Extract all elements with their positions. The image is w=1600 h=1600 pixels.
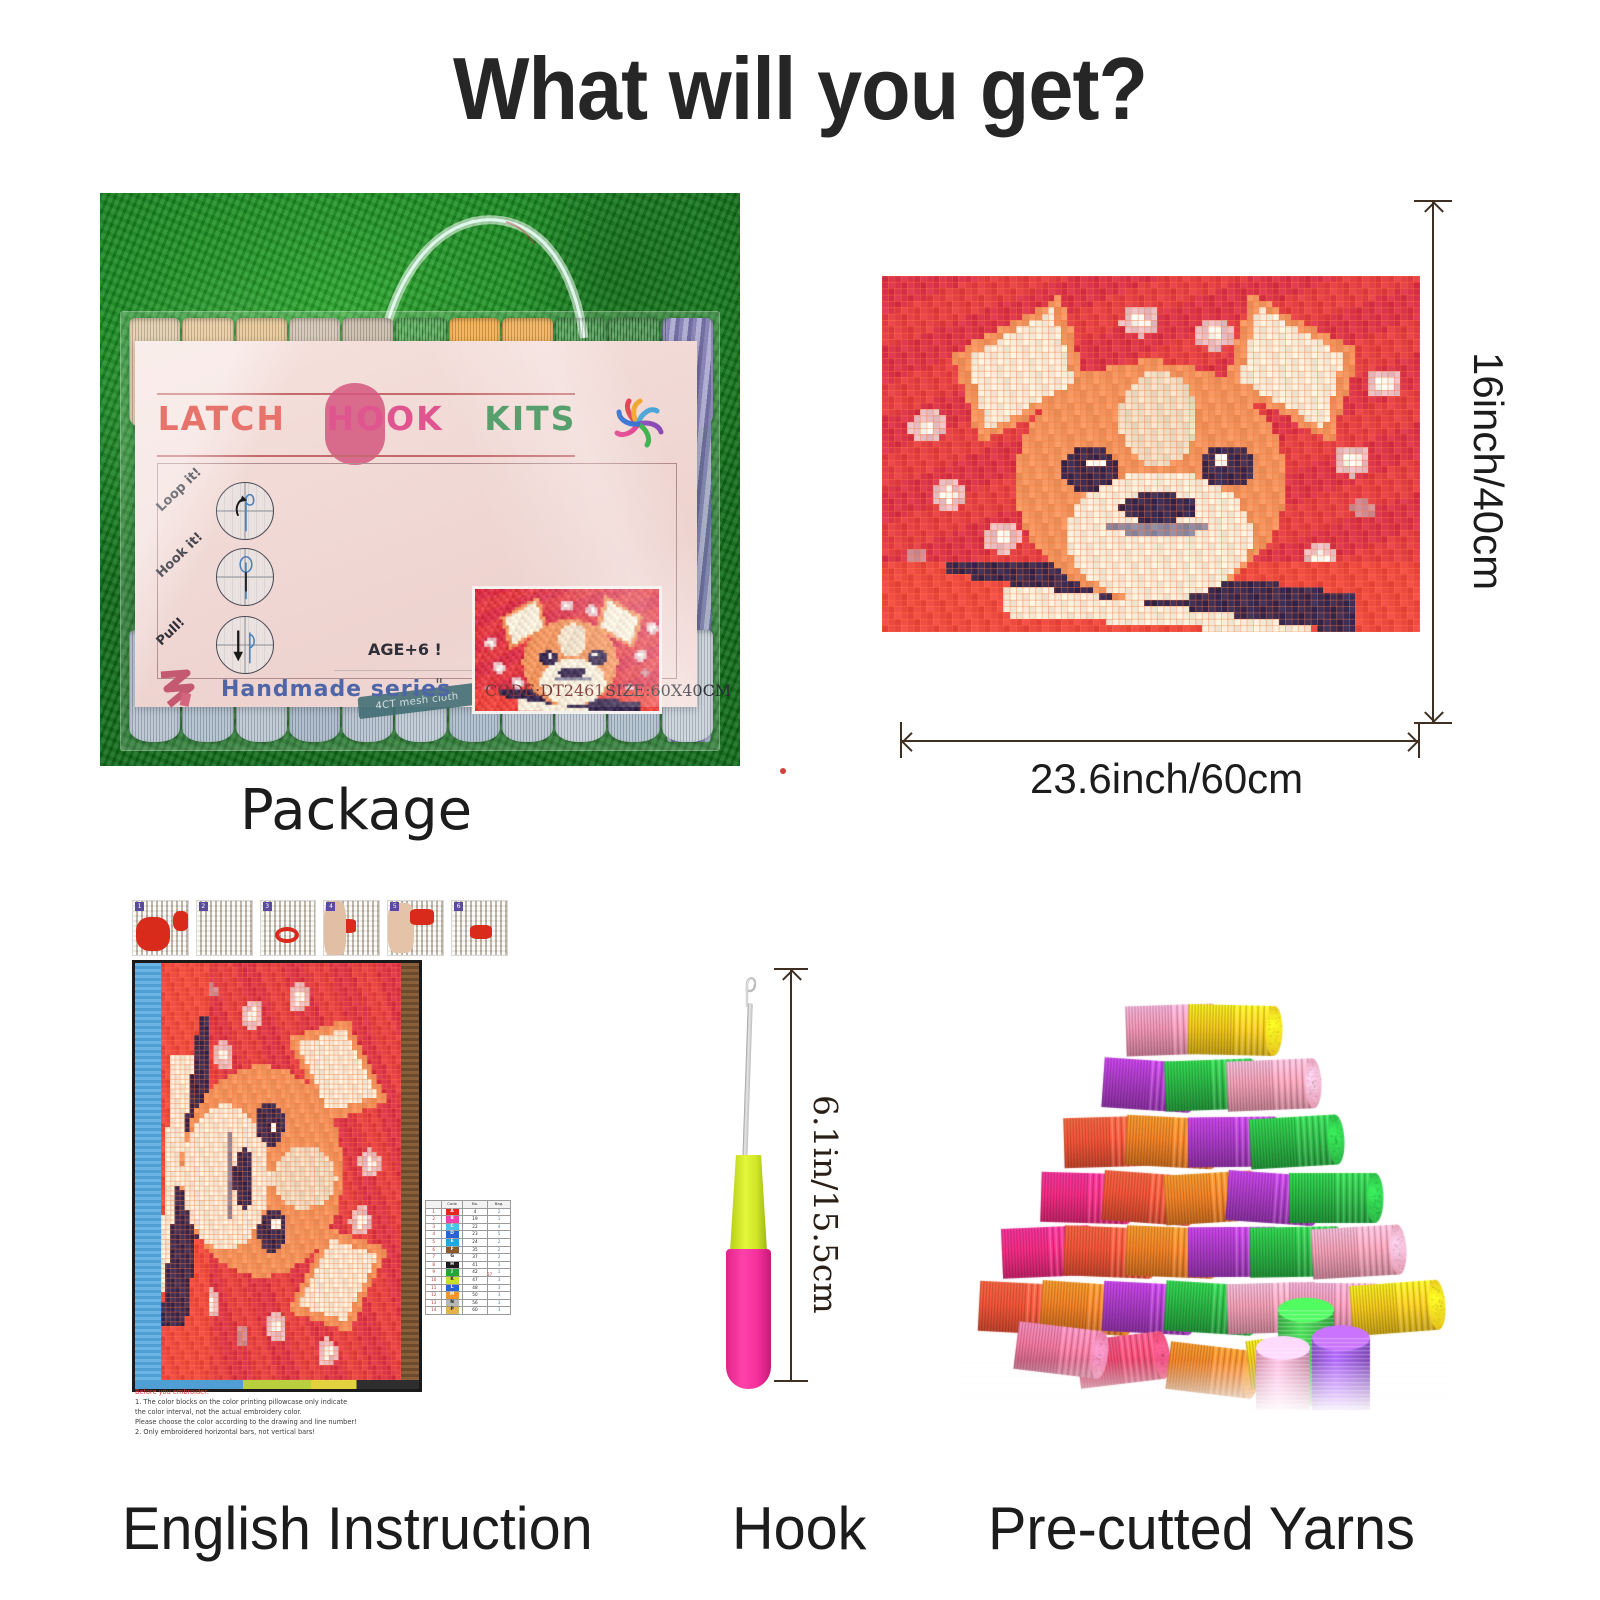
- hook-tip-icon: [736, 971, 758, 1007]
- row-color-swatch: J: [442, 1269, 462, 1277]
- row-bag: 2: [488, 1254, 511, 1262]
- row-color-swatch: B: [442, 1216, 462, 1224]
- label-instruction-box: Loop it! Hook it!: [157, 463, 677, 679]
- table-row: 14P603: [426, 1307, 511, 1315]
- table-row: 6F352: [426, 1246, 511, 1254]
- label-title-word-2: HOOK: [326, 399, 443, 438]
- instruction-notes: Before you embroider: 1. The color block…: [135, 1387, 445, 1437]
- step-number: 6: [454, 902, 463, 911]
- row-color-swatch: G: [442, 1254, 462, 1262]
- row-color-swatch: A: [442, 1208, 462, 1216]
- row-number: 35: [462, 1246, 487, 1254]
- row-number: 47: [462, 1276, 487, 1284]
- label-title-word-3: KITS: [484, 399, 576, 438]
- table-row: 12M503: [426, 1292, 511, 1300]
- step-diagram-hook: [216, 548, 274, 606]
- row-color-swatch: E: [442, 1238, 462, 1246]
- row-index: 4: [426, 1231, 442, 1239]
- row-color-swatch: D: [442, 1231, 462, 1239]
- row-index: 3: [426, 1223, 442, 1231]
- row-index: 1: [426, 1208, 442, 1216]
- plastic-bag: LATCH HOOK KITS: [120, 311, 720, 751]
- hook-handle-lower: [726, 1249, 771, 1389]
- zigzag-logo-icon: [157, 667, 199, 709]
- row-number: 60: [462, 1307, 487, 1315]
- row-number: 42: [462, 1269, 487, 1277]
- dimension-line-vertical: [1432, 200, 1434, 724]
- step-label-pull: Pull!: [154, 615, 189, 649]
- step-thumbnail: 2: [196, 900, 253, 956]
- notes-header: Before you embroider:: [135, 1387, 445, 1397]
- row-bag: 1: [488, 1216, 511, 1224]
- row-bag: 5: [488, 1231, 511, 1239]
- note-line: 2. Only embroidered horizontal bars, not…: [135, 1427, 445, 1437]
- row-number: 19: [462, 1216, 487, 1224]
- dimension-line-horizontal: [900, 740, 1420, 742]
- brand-name: Handmade series: [221, 677, 451, 702]
- row-number: 22: [462, 1223, 487, 1231]
- step-diagram-loop: [216, 482, 274, 540]
- yarn-blob: [410, 909, 434, 925]
- pinwheel-logo-icon: [607, 393, 669, 455]
- row-index: 13: [426, 1299, 442, 1307]
- table-row: 13N563: [426, 1299, 511, 1307]
- printed-mesh-canvas: [882, 276, 1420, 632]
- row-bag: 3: [488, 1261, 511, 1269]
- step-label-hook: Hook it!: [154, 530, 207, 581]
- table-header-row: Code No. Bag.: [426, 1201, 511, 1209]
- step-number: 3: [263, 902, 272, 911]
- chart-ruler-left: [135, 963, 161, 1389]
- row-index: 12: [426, 1292, 442, 1300]
- label-title: LATCH HOOK KITS: [157, 399, 577, 438]
- color-code-total: 37: [487, 1272, 492, 1277]
- row-number: 48: [462, 1284, 487, 1292]
- row-color-swatch: N: [442, 1299, 462, 1307]
- yarn-blob: [173, 911, 189, 931]
- step-thumbnail: 3: [260, 900, 317, 956]
- product-size: SIZE:60X40CM: [605, 681, 731, 700]
- step-thumbnail: 6: [451, 900, 508, 956]
- package-photo: LATCH HOOK KITS: [100, 193, 740, 766]
- page-title: What will you get?: [64, 38, 1536, 140]
- step-number: 2: [199, 902, 208, 911]
- table-row: 7G372: [426, 1254, 511, 1262]
- yarn-blob: [136, 917, 170, 951]
- table-row: 1A42: [426, 1208, 511, 1216]
- row-color-swatch: C: [442, 1223, 462, 1231]
- row-color-swatch: L: [442, 1284, 462, 1292]
- yarn-blob: [470, 925, 492, 939]
- row-number: 23: [462, 1231, 487, 1239]
- step-thumbnail: 1: [132, 900, 189, 956]
- stray-red-dot: [780, 768, 786, 774]
- row-bag: 2: [488, 1246, 511, 1254]
- row-number: 37: [462, 1254, 487, 1262]
- row-color-swatch: H: [442, 1261, 462, 1269]
- row-index: 11: [426, 1284, 442, 1292]
- hook-metal-shaft: [742, 1003, 753, 1163]
- row-index: 8: [426, 1261, 442, 1269]
- yarn-blob: [275, 927, 299, 943]
- chart-pattern-area: 4038353230282522201815 112030405060: [161, 963, 401, 1380]
- table-row: 10K473: [426, 1276, 511, 1284]
- step-thumbnail: 5: [387, 900, 444, 956]
- row-index: 6: [426, 1246, 442, 1254]
- product-code: CODE:DT2461: [485, 681, 604, 700]
- row-bag: 2: [488, 1208, 511, 1216]
- row-bag: 3: [488, 1292, 511, 1300]
- row-bag: 3: [488, 1299, 511, 1307]
- instruction-pattern-chart: 4038353230282522201815 112030405060: [132, 960, 422, 1392]
- hook-dimension-line: [790, 968, 792, 1380]
- caption-english-instruction: English Instruction: [122, 1494, 593, 1563]
- row-number: 4: [462, 1208, 487, 1216]
- label-rule-bottom: [157, 455, 575, 457]
- table-row: 3C224: [426, 1223, 511, 1231]
- row-bag: 3: [488, 1284, 511, 1292]
- row-bag: 3: [488, 1307, 511, 1315]
- caption-hook: Hook: [732, 1494, 866, 1563]
- step-number: 5: [390, 902, 399, 911]
- chart-ruler-right: [401, 963, 419, 1389]
- step-diagram-pull: [216, 616, 274, 674]
- row-index: 5: [426, 1238, 442, 1246]
- hook-handle-upper: [730, 1155, 767, 1251]
- row-color-swatch: M: [442, 1292, 462, 1300]
- row-number: 41: [462, 1261, 487, 1269]
- instruction-step-thumbnails: 1 2 3 4 5 6: [132, 900, 508, 956]
- row-index: 10: [426, 1276, 442, 1284]
- row-number: 24: [462, 1238, 487, 1246]
- col-index: [426, 1201, 442, 1209]
- yarn-pile-canvas: [960, 930, 1450, 1410]
- note-line: Please choose the color according to the…: [135, 1417, 445, 1427]
- caption-package: Package: [240, 778, 472, 843]
- dimension-label-height: 16inch/40cm: [1464, 352, 1512, 590]
- row-index: 14: [426, 1307, 442, 1315]
- row-index: 9: [426, 1269, 442, 1277]
- latch-hook-tool: 6.1in/15.5cm: [700, 955, 830, 1395]
- row-number: 50: [462, 1292, 487, 1300]
- step-label-loop: Loop it!: [154, 465, 205, 515]
- table-row: 4D235: [426, 1231, 511, 1239]
- row-index: 7: [426, 1254, 442, 1262]
- canvas-pattern: [882, 276, 1420, 632]
- instruction-sheet: 1 2 3 4 5 6: [125, 900, 515, 1485]
- label-title-word-1: LATCH: [158, 399, 286, 438]
- age-recommendation: AGE+6 !: [368, 640, 442, 659]
- col-no: No.: [462, 1201, 487, 1209]
- row-bag: 3: [488, 1276, 511, 1284]
- col-bag: Bag.: [488, 1201, 511, 1209]
- row-number: 56: [462, 1299, 487, 1307]
- caption-pre-cutted-yarns: Pre-cutted Yarns: [988, 1494, 1415, 1563]
- chart-pattern-canvas: [161, 963, 401, 1380]
- hook-length-label: 6.1in/15.5cm: [806, 1095, 845, 1314]
- table-row: 2B191: [426, 1216, 511, 1224]
- package-label-card: LATCH HOOK KITS: [135, 341, 697, 707]
- row-color-swatch: K: [442, 1276, 462, 1284]
- table-row: 11L483: [426, 1284, 511, 1292]
- row-color-swatch: F: [442, 1246, 462, 1254]
- table-row: 5E242: [426, 1238, 511, 1246]
- step-number: 4: [326, 902, 335, 911]
- dimension-label-width: 23.6inch/60cm: [1030, 755, 1303, 803]
- table-row: 8H413: [426, 1261, 511, 1269]
- pre-cut-yarn-bundles: [960, 930, 1450, 1410]
- step-number: 1: [135, 902, 144, 911]
- label-quote-mark: ": [435, 675, 443, 696]
- hook-dimension-tick-bottom: [774, 1380, 808, 1382]
- note-line: the color interval, not the actual embro…: [135, 1407, 445, 1417]
- table-row: 9J421: [426, 1269, 511, 1277]
- row-bag: 2: [488, 1238, 511, 1246]
- step-thumbnail: 4: [323, 900, 380, 956]
- note-line: 1. The color blocks on the color printin…: [135, 1397, 445, 1407]
- row-index: 2: [426, 1216, 442, 1224]
- row-bag: 4: [488, 1223, 511, 1231]
- row-color-swatch: P: [442, 1307, 462, 1315]
- color-code-table: Code No. Bag. 1A422B1913C2244D2355E2426F…: [425, 1200, 511, 1315]
- col-code: Code: [442, 1201, 462, 1209]
